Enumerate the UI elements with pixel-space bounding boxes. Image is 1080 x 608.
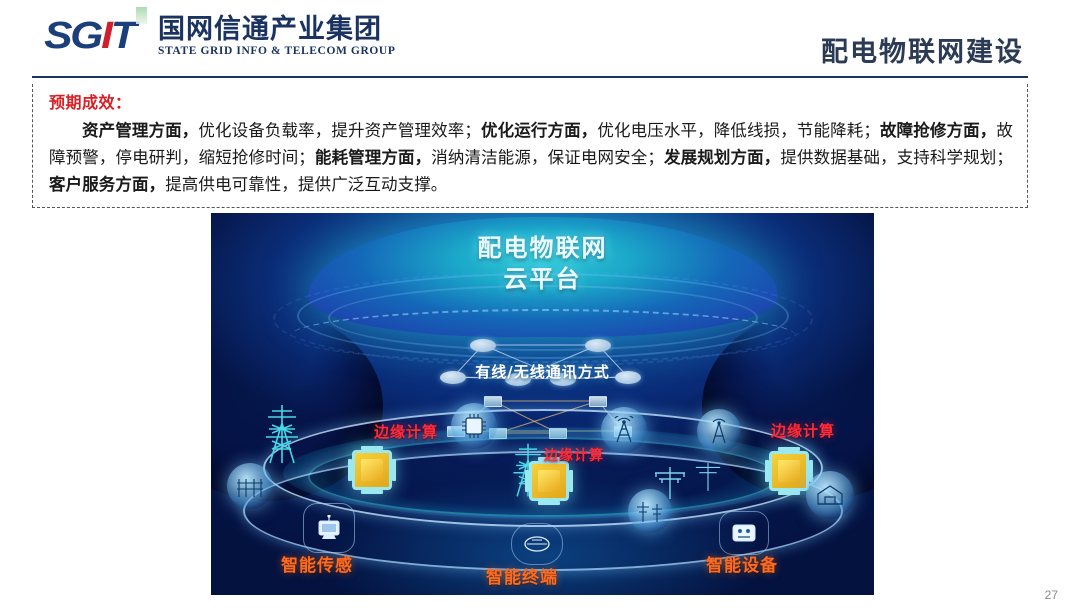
page-number: 27 bbox=[1045, 588, 1058, 602]
antenna-bubble bbox=[697, 409, 741, 453]
edge-computing-chip-icon bbox=[769, 451, 809, 491]
terminal-icon bbox=[522, 534, 552, 554]
label-smart-terminal: 智能终端 bbox=[486, 563, 558, 588]
body-text: 优化电压水平，降低线损，节能降耗； bbox=[597, 121, 880, 140]
processor-icon bbox=[461, 413, 487, 439]
tower-cluster-bubble bbox=[628, 489, 672, 533]
substation-building-icon bbox=[815, 482, 845, 508]
sgit-wordmark: SGIT bbox=[44, 17, 134, 55]
communication-tower-bubble bbox=[601, 407, 647, 453]
cloud-label-line-1: 配电物联网 bbox=[211, 233, 874, 264]
substation-building-bubble bbox=[806, 471, 854, 519]
smart-terminal-device bbox=[511, 523, 563, 565]
header-divider bbox=[32, 76, 1028, 78]
brand-logo-block: SGIT 国网信通产业集团 STATE GRID INFO & TELECOM … bbox=[30, 14, 395, 58]
expected-results-label: 预期成效： bbox=[49, 92, 1013, 114]
utility-pole-icon bbox=[688, 460, 728, 494]
body-text: 优化设备负载率，提升资产管理效率； bbox=[198, 121, 481, 140]
smart-sensor-device bbox=[303, 503, 355, 553]
edge-computing-chip-icon bbox=[352, 450, 392, 490]
distribution-iot-diagram: 配电物联网 云平台 bbox=[211, 213, 874, 595]
substation-bubble bbox=[227, 463, 273, 509]
page-title: 配电物联网建设 bbox=[821, 30, 1024, 69]
edge-computing-chip-icon bbox=[529, 461, 569, 501]
company-name-block: 国网信通产业集团 STATE GRID INFO & TELECOM GROUP bbox=[158, 15, 395, 57]
label-edge-compute-right: 边缘计算 bbox=[771, 420, 835, 441]
body-text: 消纳清洁能源，保证电网安全； bbox=[431, 148, 664, 167]
communication-mode-label: 有线/无线通讯方式 bbox=[211, 361, 874, 382]
slide-header: SGIT 国网信通产业集团 STATE GRID INFO & TELECOM … bbox=[0, 0, 1080, 78]
sensor-monitor-icon bbox=[315, 515, 343, 541]
body-term: 资产管理方面， bbox=[82, 121, 198, 140]
label-edge-compute-mid: 边缘计算 bbox=[544, 445, 604, 465]
transmission-tower-icon bbox=[260, 403, 304, 465]
label-edge-compute-left: 边缘计算 bbox=[374, 421, 438, 442]
cloud-label-line-2: 云平台 bbox=[211, 264, 874, 295]
cloud-platform-label: 配电物联网 云平台 bbox=[211, 233, 874, 294]
body-term: 优化运行方面， bbox=[481, 121, 597, 140]
router-node bbox=[585, 339, 611, 352]
router-node bbox=[470, 339, 496, 352]
green-accent-shape bbox=[136, 7, 147, 24]
label-smart-device: 智能设备 bbox=[706, 551, 778, 576]
slide-root: SGIT 国网信通产业集团 STATE GRID INFO & TELECOM … bbox=[0, 0, 1080, 608]
body-term: 发展规划方面， bbox=[664, 148, 780, 167]
switch-node bbox=[589, 396, 607, 407]
body-text: 提高供电可靠性，提供广泛互动支撑。 bbox=[165, 175, 447, 194]
body-term: 客户服务方面， bbox=[49, 175, 165, 194]
switch-node bbox=[484, 396, 502, 407]
smart-equipment-device bbox=[719, 511, 769, 555]
label-smart-sensing: 智能传感 bbox=[281, 551, 353, 576]
communication-tower-icon bbox=[611, 416, 637, 444]
expected-results-box: 预期成效： 资产管理方面，优化设备负载率，提升资产管理效率；优化运行方面，优化电… bbox=[32, 84, 1028, 208]
body-term: 能耗管理方面， bbox=[315, 148, 431, 167]
expected-results-body: 资产管理方面，优化设备负载率，提升资产管理效率；优化运行方面，优化电压水平，降低… bbox=[49, 118, 1013, 198]
equipment-icon bbox=[729, 522, 759, 544]
sgit-logo-icon: SGIT bbox=[30, 14, 148, 58]
processor-bubble bbox=[451, 403, 497, 449]
antenna-icon bbox=[707, 418, 731, 444]
substation-icon bbox=[235, 473, 265, 499]
body-term: 故障抢修方面， bbox=[880, 121, 996, 140]
body-text: 提供数据基础，支持科学规划； bbox=[780, 148, 1013, 167]
company-name-en: STATE GRID INFO & TELECOM GROUP bbox=[158, 45, 395, 57]
company-name-cn: 国网信通产业集团 bbox=[158, 15, 395, 44]
tower-cluster-icon bbox=[635, 498, 665, 524]
